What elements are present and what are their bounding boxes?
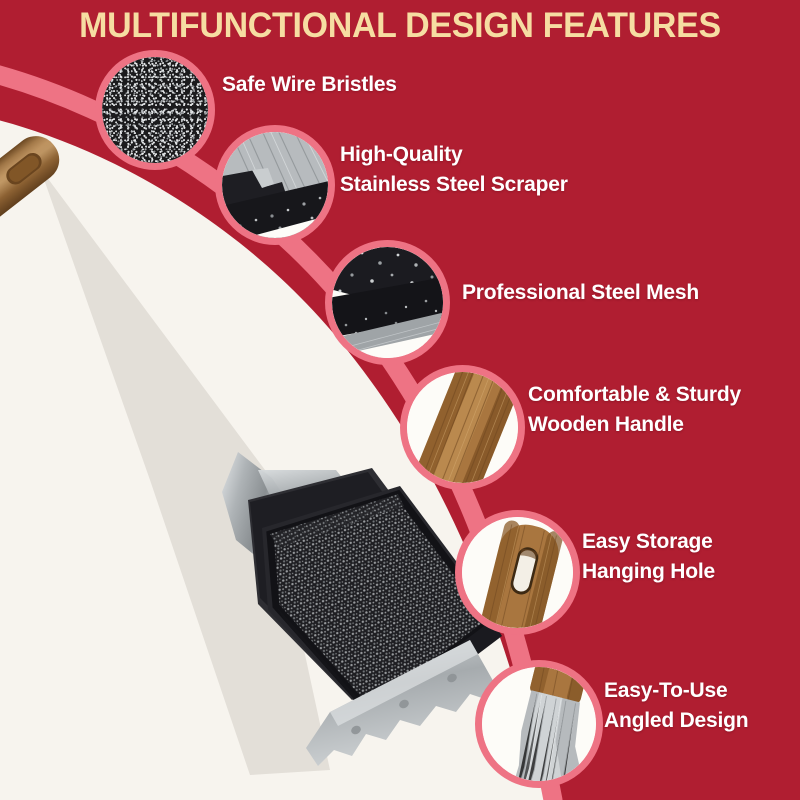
steel-mesh-closeup-icon — [332, 247, 443, 358]
wooden-handle-closeup-icon — [407, 372, 518, 483]
feature-label-professional-steel-mesh: Professional Steel Mesh — [462, 278, 699, 308]
angled-blade-closeup-icon — [482, 667, 596, 781]
page-title: MULTIFUNCTIONAL DESIGN FEATURES — [12, 6, 788, 46]
feature-circle-professional-steel-mesh[interactable] — [325, 240, 450, 365]
feature-label-stainless-steel-scraper: High-Quality Stainless Steel Scraper — [340, 140, 568, 200]
feature-circle-angled-design[interactable] — [475, 660, 603, 788]
feature-label-hanging-hole: Easy Storage Hanging Hole — [582, 527, 715, 587]
scraper-closeup-icon — [222, 132, 328, 238]
feature-label-angled-design: Easy-To-Use Angled Design — [604, 676, 748, 736]
hanging-hole-closeup-icon — [462, 517, 573, 628]
product-feature-infographic: MULTIFUNCTIONAL DESIGN FEATURES — [0, 0, 800, 800]
feature-circle-wooden-handle[interactable] — [400, 365, 525, 490]
feature-circle-stainless-steel-scraper[interactable] — [215, 125, 335, 245]
feature-label-wooden-handle: Comfortable & Sturdy Wooden Handle — [528, 380, 741, 440]
feature-circle-safe-wire-bristles[interactable] — [95, 50, 215, 170]
bristle-texture-icon — [102, 57, 208, 163]
feature-label-safe-wire-bristles: Safe Wire Bristles — [222, 70, 397, 100]
feature-circle-hanging-hole[interactable] — [455, 510, 580, 635]
